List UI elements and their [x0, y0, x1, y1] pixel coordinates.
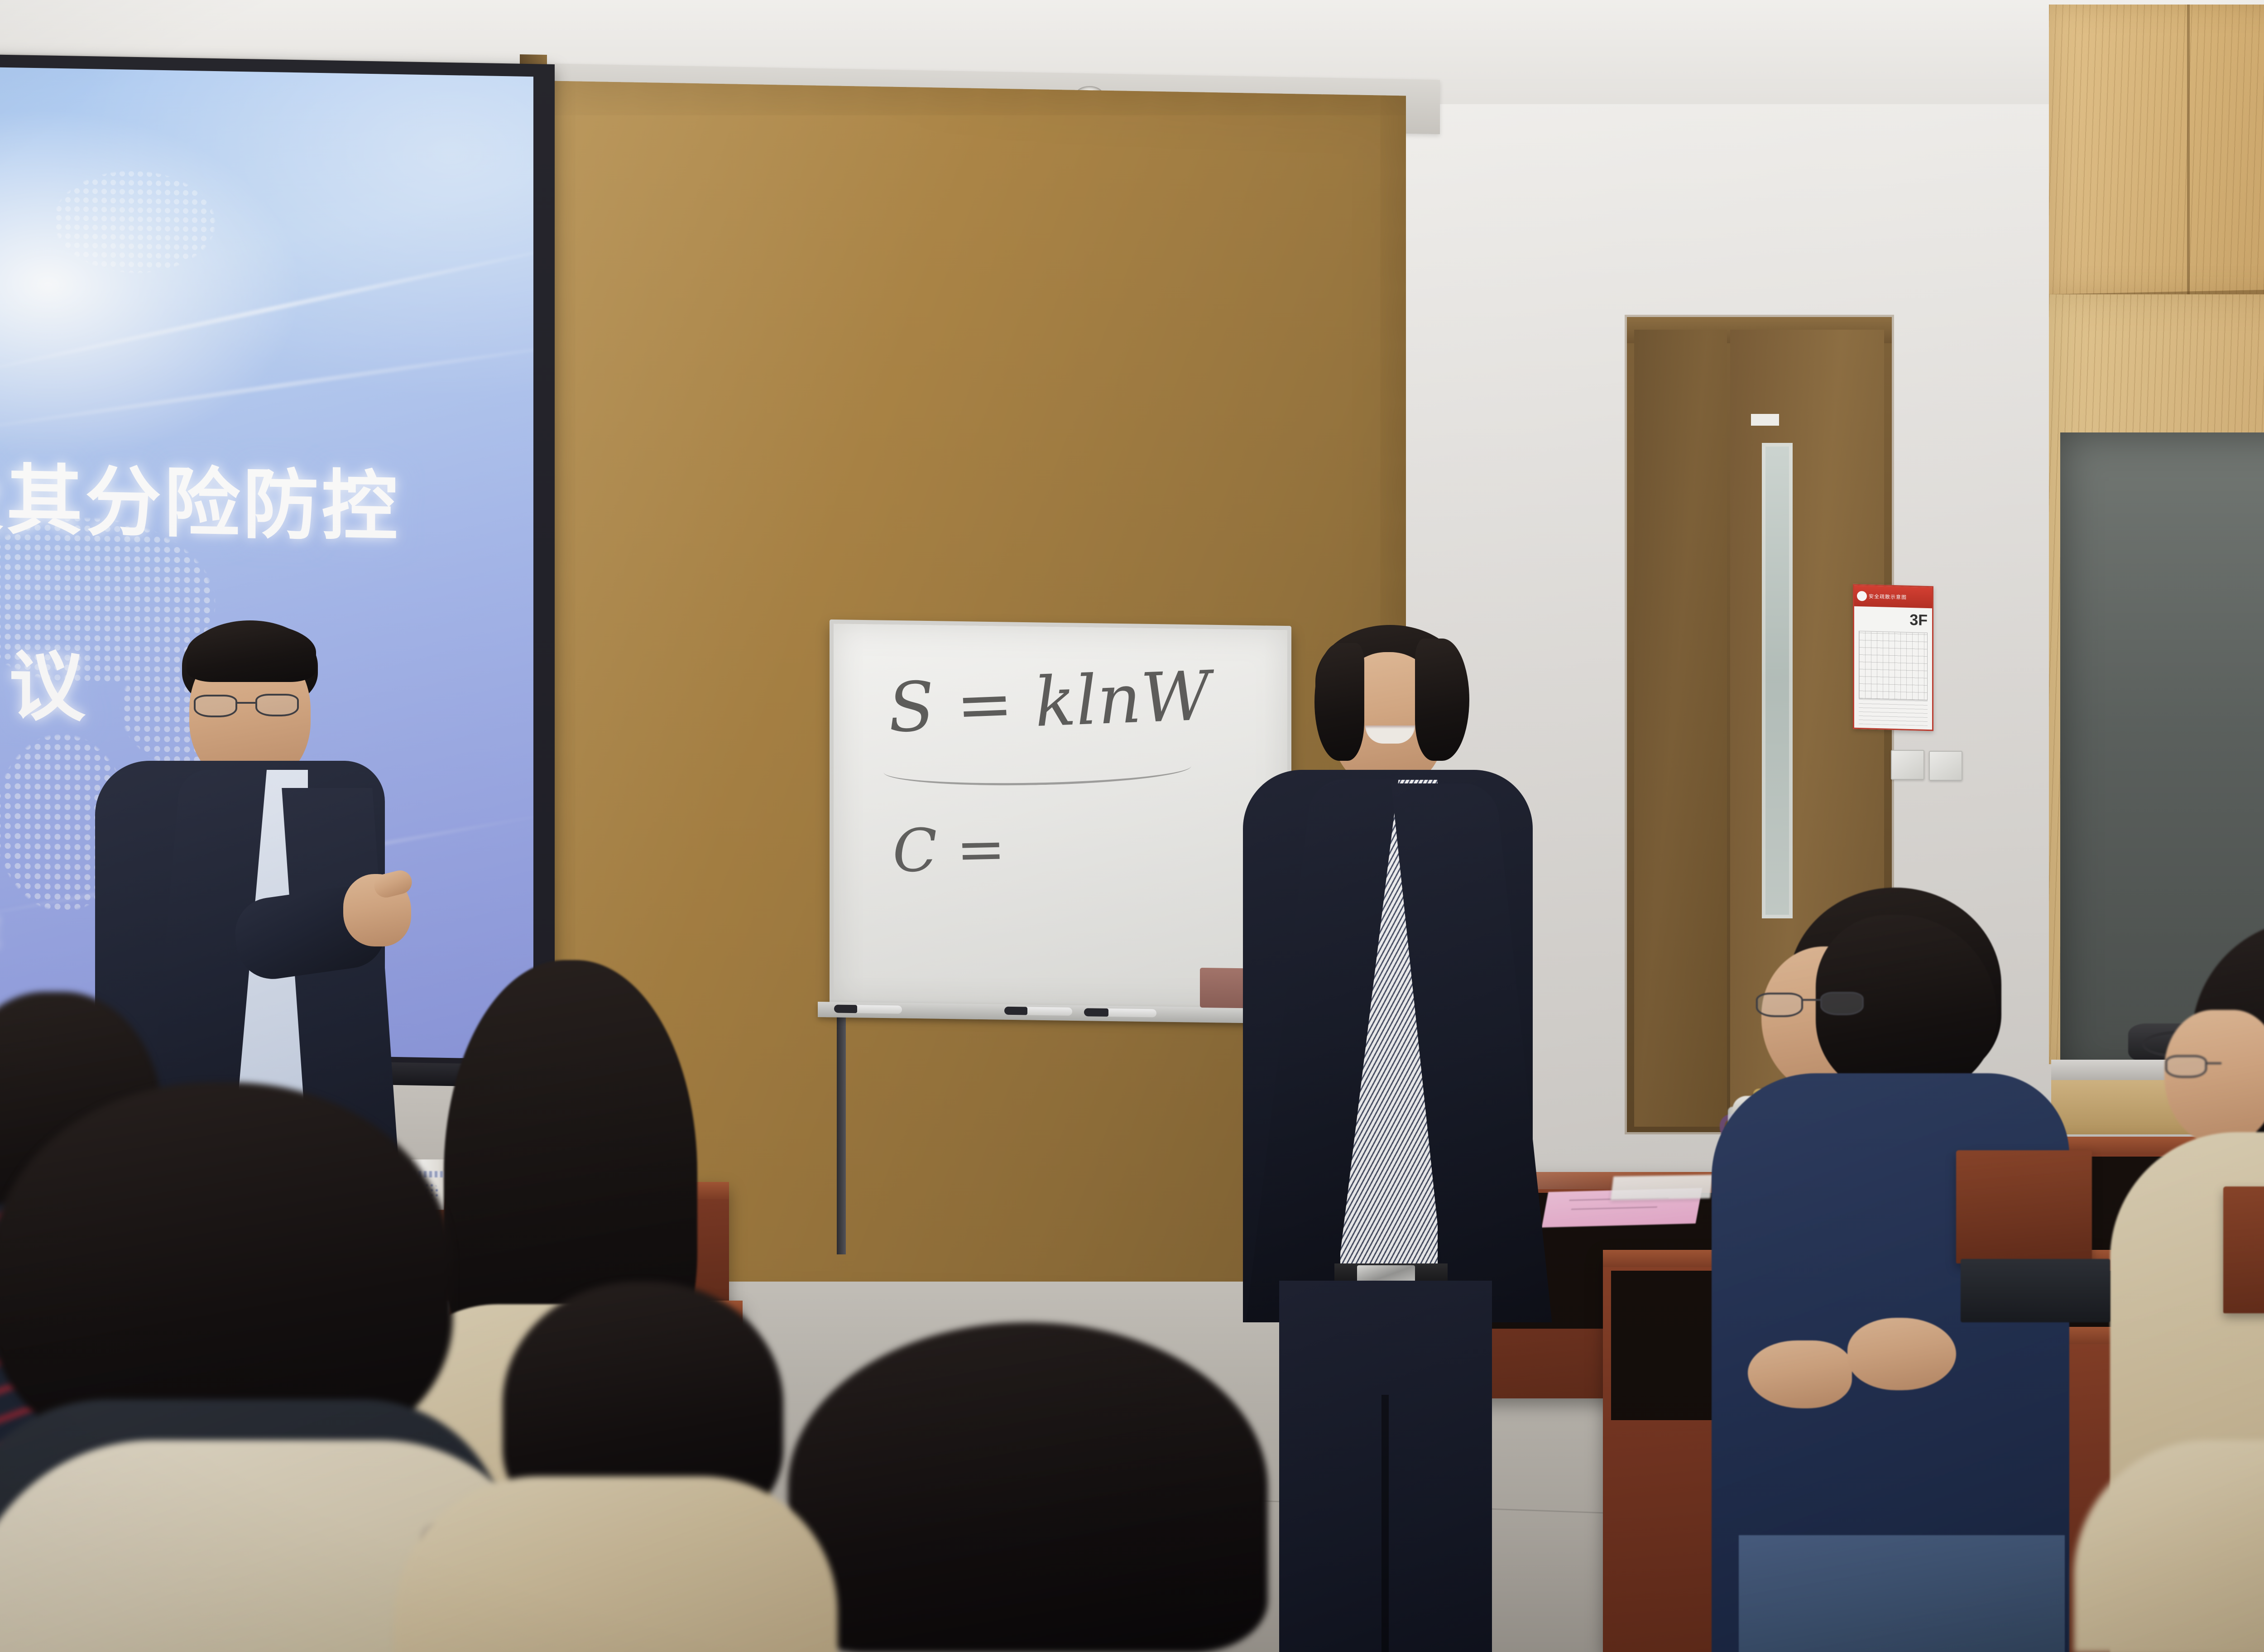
world-map-dots-upper — [36, 149, 317, 390]
lecture-hall-photo: 及其分险防控 议 院 日 S = klnW C = 安全疏散示意图 — [0, 0, 2264, 1652]
lens-right — [255, 694, 299, 716]
lens-left — [1756, 993, 1803, 1017]
slide-title-line1: 及其分险防控 — [0, 437, 400, 556]
eyeglasses — [191, 693, 311, 720]
chair-back[interactable] — [1956, 1150, 2092, 1263]
hair — [788, 1322, 1268, 1652]
glasses-bridge — [2207, 1062, 2221, 1064]
door-vision-panel — [1762, 443, 1793, 918]
light-switch-plate[interactable] — [1929, 751, 1962, 781]
marker-icon[interactable] — [834, 1005, 902, 1014]
lens-left — [194, 695, 237, 717]
jacket — [394, 1476, 838, 1652]
chair-back[interactable] — [2223, 1186, 2264, 1313]
seated-attendee-midfront — [394, 1282, 829, 1652]
chair-seat[interactable] — [1961, 1259, 2110, 1322]
whiteboard[interactable]: S = klnW C = — [830, 619, 1291, 1015]
eyeglasses — [1756, 991, 1869, 1019]
lens-right — [1820, 992, 1864, 1015]
door-label-sticker — [1751, 414, 1779, 426]
glasses-bridge — [1803, 999, 1821, 1001]
cabinet-door-seam — [2187, 5, 2190, 294]
jacket-shoulder — [2074, 1440, 2264, 1652]
slide-title-line2: 议 — [9, 624, 88, 736]
whiteboard-surface[interactable]: S = klnW C = — [834, 624, 1287, 1011]
whiteboard-underline-squiggle — [883, 750, 1192, 788]
fire-sign-legend — [1859, 698, 1928, 726]
wall-cabinet-upper[interactable] — [2049, 5, 2264, 294]
fire-sign-floor-label: 3F — [1909, 611, 1928, 629]
cabinet-woodgrain — [2049, 5, 2264, 294]
hair-top — [187, 623, 316, 682]
jeans — [1739, 1535, 2065, 1652]
seated-attendee-rightfront — [2074, 1440, 2264, 1652]
whiteboard-leg — [837, 1001, 846, 1254]
whiteboard-equation-top: S = klnW — [886, 657, 1213, 748]
whiteboard-equation-bottom: C = — [891, 814, 1007, 885]
fire-sign-floorplan — [1859, 631, 1928, 701]
eyeglasses — [2165, 1055, 2242, 1081]
trouser-leg-split — [1381, 1395, 1389, 1652]
slide-affiliation: 院 — [0, 899, 2, 956]
light-switch-plate[interactable] — [1891, 750, 1924, 780]
marker-icon[interactable] — [1004, 1007, 1072, 1016]
fire-logo-icon — [1857, 591, 1867, 601]
hair-fringe-right — [1415, 639, 1469, 761]
seated-attendee-front-centre — [788, 1322, 1268, 1652]
fire-evacuation-plan-sign[interactable]: 安全疏散示意图 3F — [1853, 584, 1933, 731]
presenter-smiling — [1238, 625, 1537, 1553]
lens-left — [2165, 1055, 2207, 1078]
fire-sign-header: 安全疏散示意图 — [1854, 586, 1932, 609]
fire-sign-header-text: 安全疏散示意图 — [1869, 593, 1907, 601]
hand — [1847, 1318, 1956, 1390]
marker-icon[interactable] — [1084, 1008, 1156, 1017]
glasses-bridge — [237, 702, 256, 704]
hair-fringe-left — [1314, 643, 1364, 761]
